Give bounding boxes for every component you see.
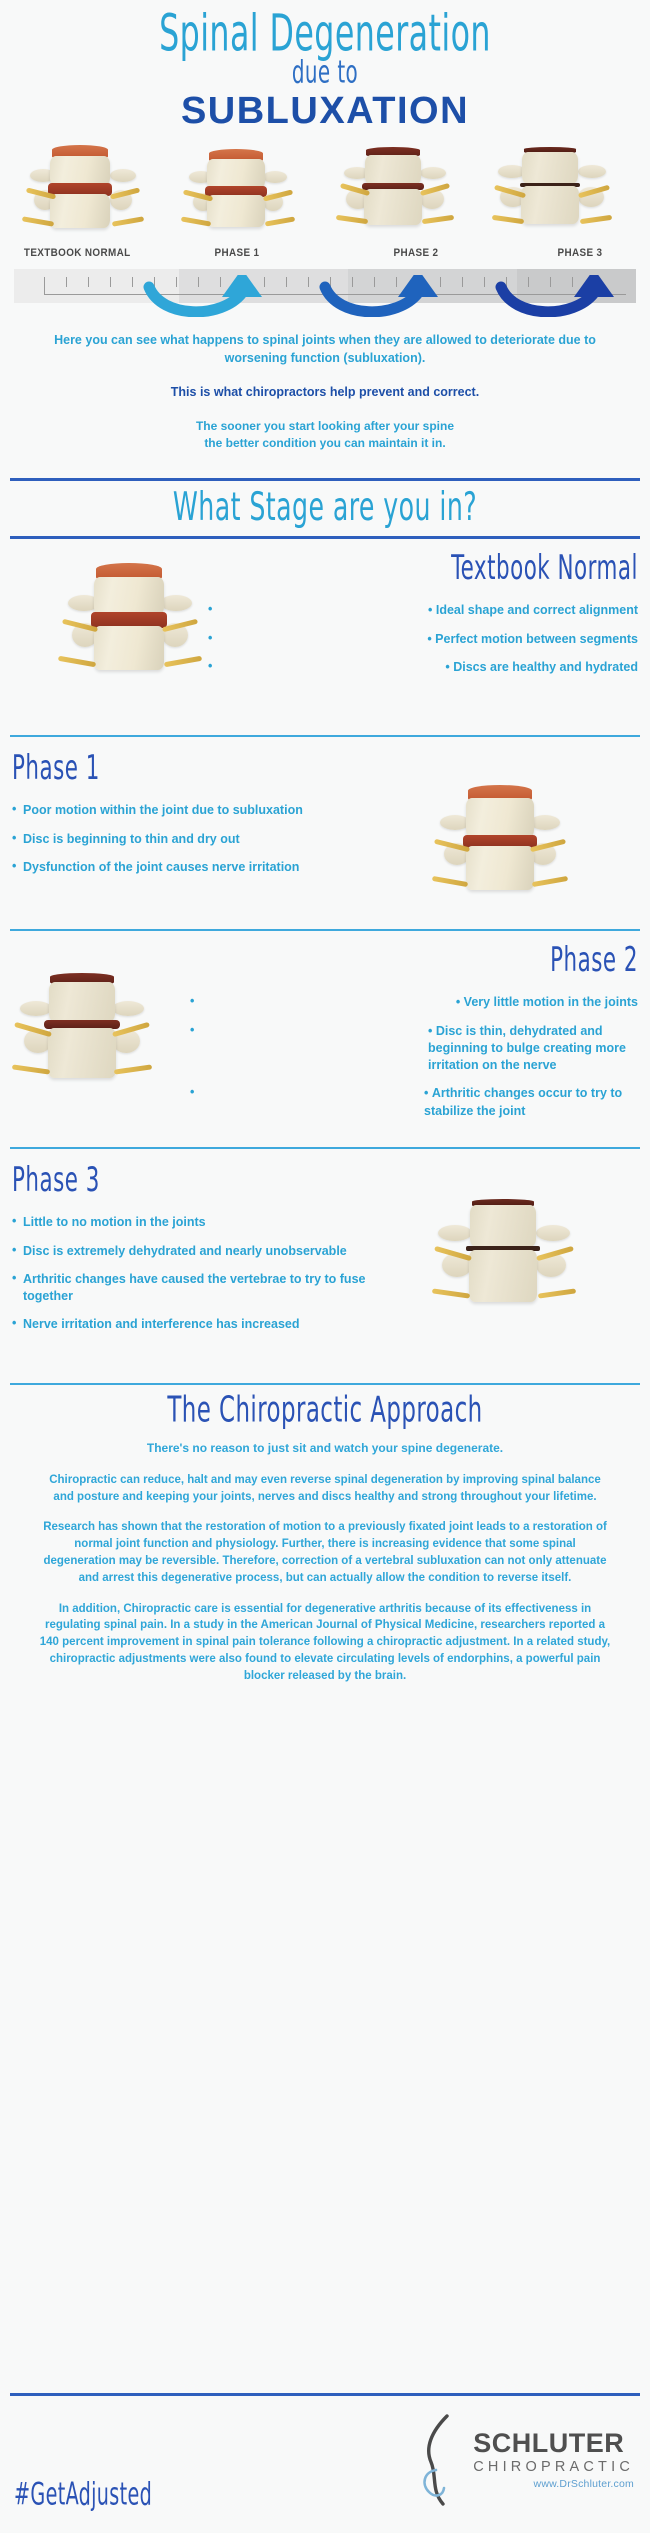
- vertebral-body-upper: [522, 152, 578, 184]
- stage-specimen-phase-2: [32, 973, 132, 1091]
- hashtag-get-adjusted: #GetAdjusted: [14, 2477, 152, 2513]
- vertebral-body-lower: [94, 626, 164, 670]
- brand-url[interactable]: www.DrSchluter.com: [473, 2478, 634, 2490]
- arrow-to-phase-1: [149, 275, 262, 312]
- vertebral-body-lower: [207, 195, 265, 227]
- stage-3-bullets: • Very little motion in the joints • Dis…: [190, 994, 638, 1120]
- stage-3-title: Phase 2: [257, 940, 638, 980]
- transverse-process-right: [530, 815, 560, 830]
- intro-copy: Here you can see what happens to spinal …: [0, 315, 650, 452]
- bullet: Poor motion within the joint due to subl…: [12, 802, 372, 819]
- page-title-line-1: Spinal Degeneration: [59, 8, 592, 61]
- specimen-phase-2: [352, 147, 438, 235]
- vertebral-body-upper: [466, 798, 534, 838]
- timeline-label-phase-2: PHASE 2: [393, 247, 438, 259]
- specimen-row: [0, 145, 650, 237]
- osteophyte-left: [438, 1225, 472, 1241]
- stage-4-text: Phase 3 Little to no motion in the joint…: [12, 1163, 382, 1344]
- intro-paragraph-3-line-2: the better condition you can maintain it…: [46, 435, 604, 452]
- vertebral-body-lower: [521, 186, 579, 224]
- arrow-to-phase-3: [501, 275, 614, 312]
- bullet: • Disc is thin, dehydrated and beginning…: [190, 1023, 638, 1075]
- stage-textbook-normal: Textbook Normal • Ideal shape and correc…: [0, 539, 650, 735]
- vertebral-body-lower: [50, 194, 110, 228]
- stage-phase-1: Phase 1 Poor motion within the joint due…: [0, 737, 650, 929]
- intro-paragraph-1: Here you can see what happens to spinal …: [46, 331, 604, 367]
- osteophyte-right: [578, 165, 606, 178]
- approach-title: The Chiropractic Approach: [49, 1380, 602, 1446]
- vertebral-body-upper: [50, 156, 110, 186]
- vertebral-body-lower: [469, 1250, 537, 1302]
- approach-body: There's no reason to just sit and watch …: [0, 1440, 650, 1684]
- progression-arrows: [14, 275, 636, 315]
- stage-specimen-phase-3: [452, 1199, 556, 1315]
- stage-1-text: Textbook Normal • Ideal shape and correc…: [208, 551, 638, 687]
- bullet-text: Disc is extremely dehydrated and nearly …: [23, 1244, 347, 1258]
- intro-paragraph-2: This is what chiropractors help prevent …: [46, 383, 604, 401]
- bullet-text: Disc is thin, dehydrated and beginning t…: [428, 1024, 626, 1073]
- footer: #GetAdjusted SCHLUTER CHIROPRACTIC www.D…: [0, 2393, 650, 2533]
- stage-2-text: Phase 1 Poor motion within the joint due…: [12, 751, 372, 887]
- osteophyte-right: [536, 1225, 570, 1241]
- nerve-root-lower-right: [580, 215, 612, 224]
- approach-paragraph-3: Research has shown that the restoration …: [38, 1519, 612, 1586]
- stages-header: What Stage are you in?: [49, 476, 602, 542]
- nerve-root-lower-left: [432, 1289, 470, 1299]
- nerve-root-lower-right: [265, 217, 295, 227]
- brand-name: SCHLUTER: [473, 2430, 634, 2457]
- stage-1-bullets: • Ideal shape and correct alignment • Pe…: [208, 602, 638, 676]
- title-block: Spinal Degeneration due to SUBLUXATION: [0, 0, 650, 133]
- vertebral-body-lower: [466, 846, 534, 890]
- bullet: • Discs are healthy and hydrated: [208, 659, 638, 676]
- stage-4-title: Phase 3: [12, 1160, 327, 1200]
- timeline-label-textbook-normal: TEXTBOOK NORMAL: [24, 247, 131, 259]
- bullet: • Very little motion in the joints: [190, 994, 638, 1011]
- timeline-label-phase-3: PHASE 3: [557, 247, 602, 259]
- specimen-phase-1: [195, 149, 281, 235]
- stage-3-text: Phase 2 • Very little motion in the join…: [190, 943, 638, 1131]
- nerve-root-lower-left: [432, 876, 468, 887]
- spine-curve-icon: [413, 2414, 465, 2506]
- bullet: • Arthritic changes occur to try to stab…: [190, 1085, 638, 1120]
- bullet: • Ideal shape and correct alignment: [208, 602, 638, 619]
- vertebral-body-upper: [94, 577, 164, 615]
- approach-paragraph-4: In addition, Chiropractic care is essent…: [38, 1601, 612, 1685]
- transverse-process-right: [263, 171, 287, 183]
- nerve-root-lower-right: [164, 656, 202, 668]
- nerve-root-lower-right: [532, 876, 568, 887]
- bullet-text: Poor motion within the joint due to subl…: [23, 803, 303, 817]
- bullet-text: Dysfunction of the joint causes nerve ir…: [23, 860, 299, 874]
- bullet-text: Arthritic changes occur to try to stabil…: [424, 1086, 622, 1117]
- vertebral-body-upper: [470, 1205, 536, 1247]
- timeline-label-phase-1: PHASE 1: [214, 247, 259, 259]
- brand-logo[interactable]: SCHLUTER CHIROPRACTIC www.DrSchluter.com: [413, 2414, 634, 2506]
- bullet: Little to no motion in the joints: [12, 1214, 382, 1231]
- nerve-root-lower-left: [12, 1065, 50, 1075]
- specimen-phase-3: [508, 147, 596, 235]
- page-title-line-3: SUBLUXATION: [0, 90, 650, 133]
- nerve-root-lower-left: [58, 656, 96, 668]
- bullet: Disc is extremely dehydrated and nearly …: [12, 1243, 382, 1260]
- brand-subtitle: CHIROPRACTIC: [473, 2457, 634, 2479]
- vertebral-body-upper: [365, 155, 421, 185]
- transverse-process-right: [110, 169, 136, 182]
- stages-header-block: What Stage are you in?: [0, 478, 650, 539]
- bullet: Arthritic changes have caused the verteb…: [12, 1271, 382, 1306]
- transverse-process-right: [420, 167, 446, 179]
- nerve-root-lower-right: [114, 1065, 152, 1075]
- stage-phase-3: Phase 3 Little to no motion in the joint…: [0, 1149, 650, 1383]
- nerve-root-lower-left: [492, 215, 524, 224]
- infographic-page: Spinal Degeneration due to SUBLUXATION: [0, 0, 650, 2533]
- page-title-line-2: due to: [59, 55, 592, 91]
- stage-2-bullets: Poor motion within the joint due to subl…: [12, 802, 372, 876]
- approach-section: The Chiropractic Approach There's no rea…: [0, 1385, 650, 1684]
- bullet-text: Discs are healthy and hydrated: [453, 660, 638, 674]
- nerve-root-lower-right: [538, 1289, 576, 1299]
- bullet-text: Ideal shape and correct alignment: [436, 603, 638, 617]
- arrows-svg: [14, 275, 636, 317]
- specimen-textbook-normal: [38, 145, 128, 235]
- approach-paragraph-2: Chiropractic can reduce, halt and may ev…: [38, 1472, 612, 1506]
- bullet: • Perfect motion between segments: [208, 631, 638, 648]
- bullet-text: Nerve irritation and interference has in…: [23, 1317, 300, 1331]
- osteophyte-left: [20, 1001, 52, 1016]
- osteophyte-right: [112, 1001, 144, 1016]
- vertebral-body-upper: [49, 982, 115, 1022]
- stage-phase-2: Phase 2 • Very little motion in the join…: [0, 931, 650, 1147]
- nerve-root-lower-right: [422, 215, 454, 224]
- bullet-text: Very little motion in the joints: [464, 995, 638, 1009]
- arrow-to-phase-2: [325, 275, 438, 312]
- stage-2-title: Phase 1: [12, 748, 318, 788]
- transverse-process-right: [160, 595, 192, 611]
- stage-4-bullets: Little to no motion in the joints Disc i…: [12, 1214, 382, 1333]
- bullet: Disc is beginning to thin and dry out: [12, 831, 372, 848]
- bullet-text: Little to no motion in the joints: [23, 1215, 206, 1229]
- nerve-root-lower-right: [112, 216, 144, 226]
- vertebral-body-lower: [364, 189, 422, 225]
- vertebral-body-upper: [207, 159, 265, 189]
- bullet: Dysfunction of the joint causes nerve ir…: [12, 859, 372, 876]
- stage-specimen-phase-1: [450, 785, 550, 901]
- bullet-text: Perfect motion between segments: [435, 632, 638, 646]
- vertebral-body-lower: [48, 1028, 116, 1078]
- bullet-text: Disc is beginning to thin and dry out: [23, 832, 240, 846]
- bullet: Nerve irritation and interference has in…: [12, 1316, 382, 1333]
- stage-specimen-textbook-normal: [78, 563, 182, 681]
- timeline-labels: TEXTBOOK NORMAL PHASE 1 PHASE 2 PHASE 3: [14, 247, 636, 269]
- intro-paragraph-3-line-1: The sooner you start looking after your …: [46, 418, 604, 435]
- bullet-text: Arthritic changes have caused the verteb…: [23, 1272, 365, 1303]
- stage-1-title: Textbook Normal: [273, 548, 639, 588]
